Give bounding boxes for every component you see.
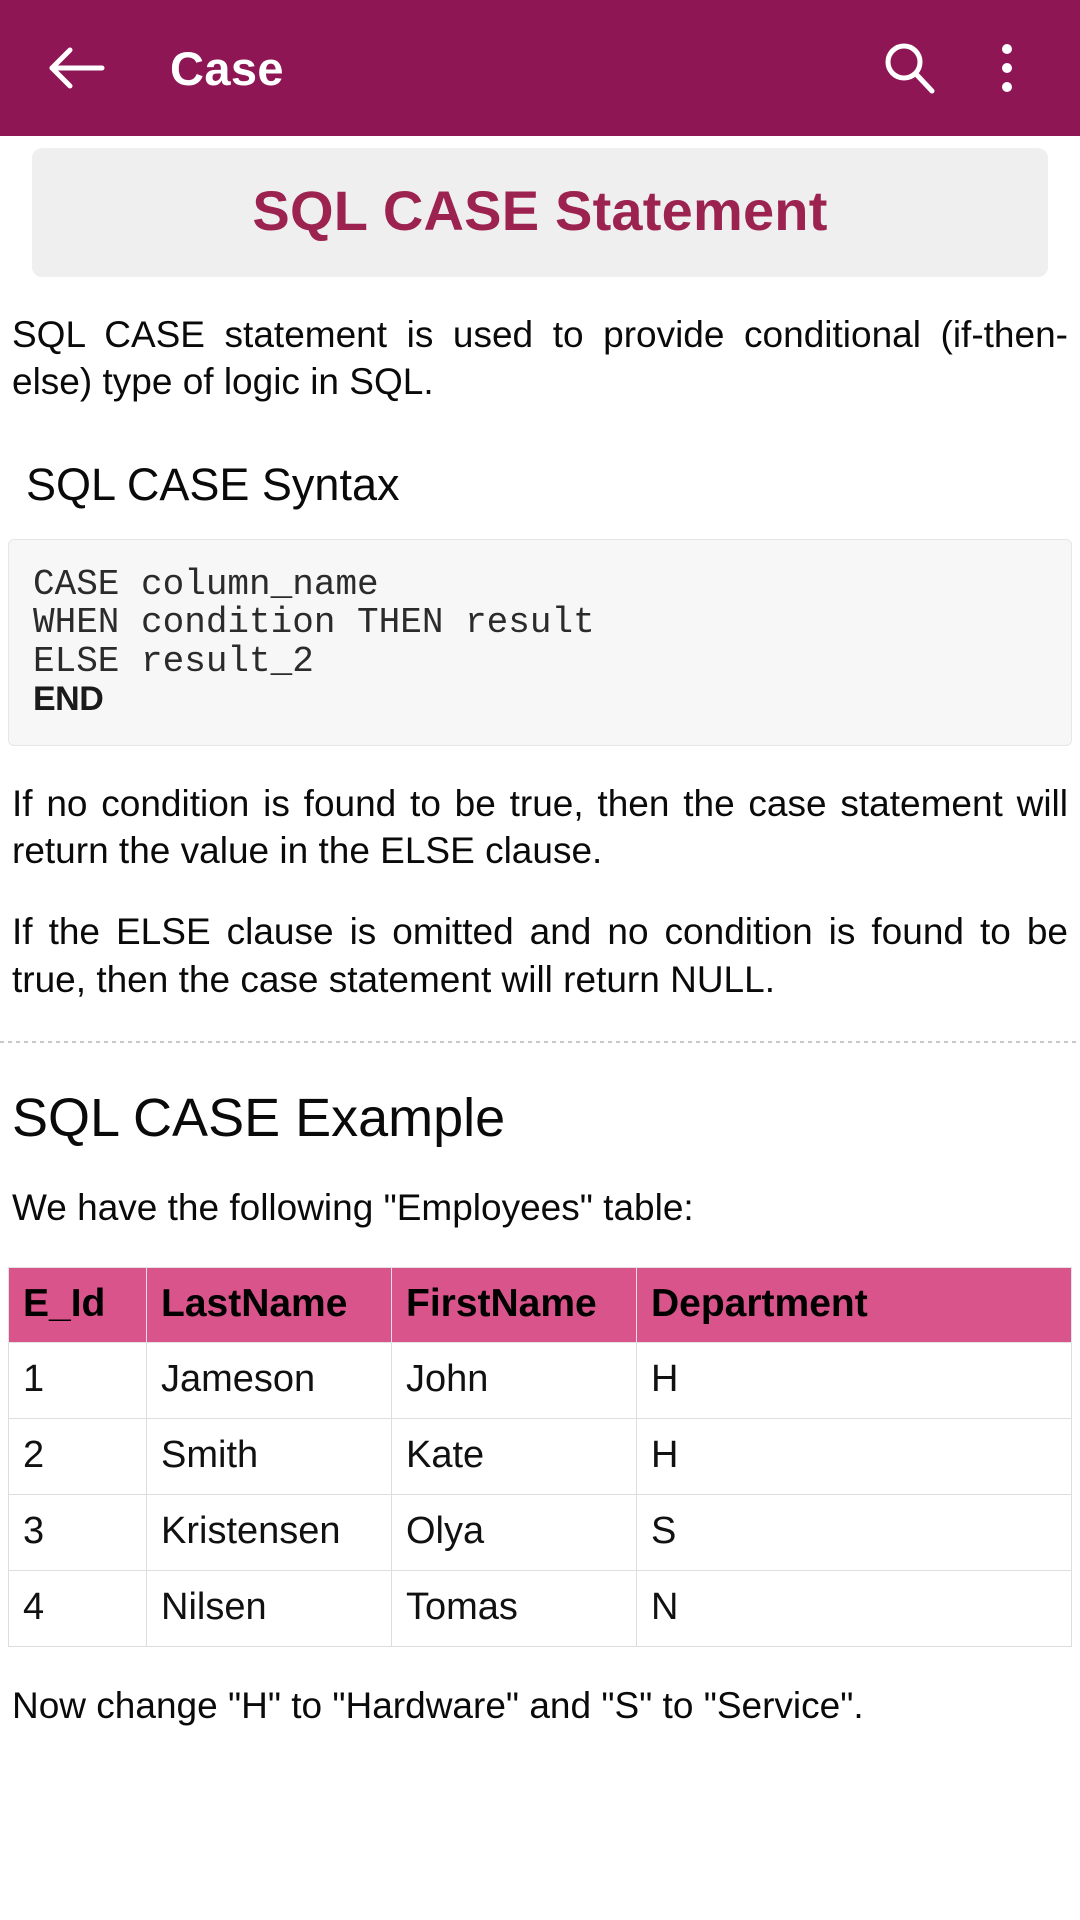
cell-department: N xyxy=(637,1570,1072,1646)
cell-lastname: Jameson xyxy=(147,1342,392,1418)
cell-department: S xyxy=(637,1494,1072,1570)
employees-table-wrapper: E_Id LastName FirstName Department 1 Jam… xyxy=(8,1267,1072,1647)
cell-firstname: Olya xyxy=(392,1494,637,1570)
cell-lastname: Nilsen xyxy=(147,1570,392,1646)
page-title: Case xyxy=(170,41,284,96)
code-line: END xyxy=(33,681,1047,717)
article-content: SQL CASE Statement SQL CASE statement is… xyxy=(0,148,1080,1729)
cell-department: H xyxy=(637,1342,1072,1418)
syntax-heading: SQL CASE Syntax xyxy=(26,460,1068,510)
cell-firstname: Kate xyxy=(392,1418,637,1494)
intro-paragraph: SQL CASE statement is used to provide co… xyxy=(12,311,1068,406)
code-line: ELSE result_2 xyxy=(33,643,1047,681)
employees-table: E_Id LastName FirstName Department 1 Jam… xyxy=(8,1267,1072,1647)
cell-eid: 4 xyxy=(9,1570,147,1646)
example-heading: SQL CASE Example xyxy=(12,1089,1068,1148)
overflow-dot-1 xyxy=(1002,44,1012,54)
column-header-lastname: LastName xyxy=(147,1267,392,1342)
closing-paragraph: Now change "H" to "Hardware" and "S" to … xyxy=(12,1683,1068,1729)
cell-lastname: Kristensen xyxy=(147,1494,392,1570)
table-row: 2 Smith Kate H xyxy=(9,1418,1072,1494)
cell-eid: 3 xyxy=(9,1494,147,1570)
app-bar: Case xyxy=(0,0,1080,136)
column-header-eid: E_Id xyxy=(9,1267,147,1342)
table-header-row: E_Id LastName FirstName Department xyxy=(9,1267,1072,1342)
overflow-dot-3 xyxy=(1002,82,1012,92)
search-icon[interactable] xyxy=(878,37,940,99)
code-line: WHEN condition THEN result xyxy=(33,604,1047,642)
cell-firstname: John xyxy=(392,1342,637,1418)
article-title: SQL CASE Statement xyxy=(42,178,1038,243)
column-header-firstname: FirstName xyxy=(392,1267,637,1342)
cell-lastname: Smith xyxy=(147,1418,392,1494)
overflow-dot-2 xyxy=(1002,63,1012,73)
table-intro-text: We have the following "Employees" table: xyxy=(12,1185,1068,1231)
syntax-code-block: CASE column_name WHEN condition THEN res… xyxy=(8,539,1072,746)
section-divider xyxy=(0,1041,1080,1043)
cell-eid: 2 xyxy=(9,1418,147,1494)
code-line: CASE column_name xyxy=(33,566,1047,604)
back-arrow-icon[interactable] xyxy=(44,35,110,101)
overflow-menu-icon[interactable] xyxy=(984,37,1030,99)
cell-firstname: Tomas xyxy=(392,1570,637,1646)
null-return-paragraph: If the ELSE clause is omitted and no con… xyxy=(12,908,1068,1003)
table-row: 3 Kristensen Olya S xyxy=(9,1494,1072,1570)
cell-eid: 1 xyxy=(9,1342,147,1418)
cell-department: H xyxy=(637,1418,1072,1494)
article-title-card: SQL CASE Statement xyxy=(32,148,1048,277)
table-row: 4 Nilsen Tomas N xyxy=(9,1570,1072,1646)
column-header-department: Department xyxy=(637,1267,1072,1342)
table-row: 1 Jameson John H xyxy=(9,1342,1072,1418)
else-clause-paragraph: If no condition is found to be true, the… xyxy=(12,780,1068,875)
